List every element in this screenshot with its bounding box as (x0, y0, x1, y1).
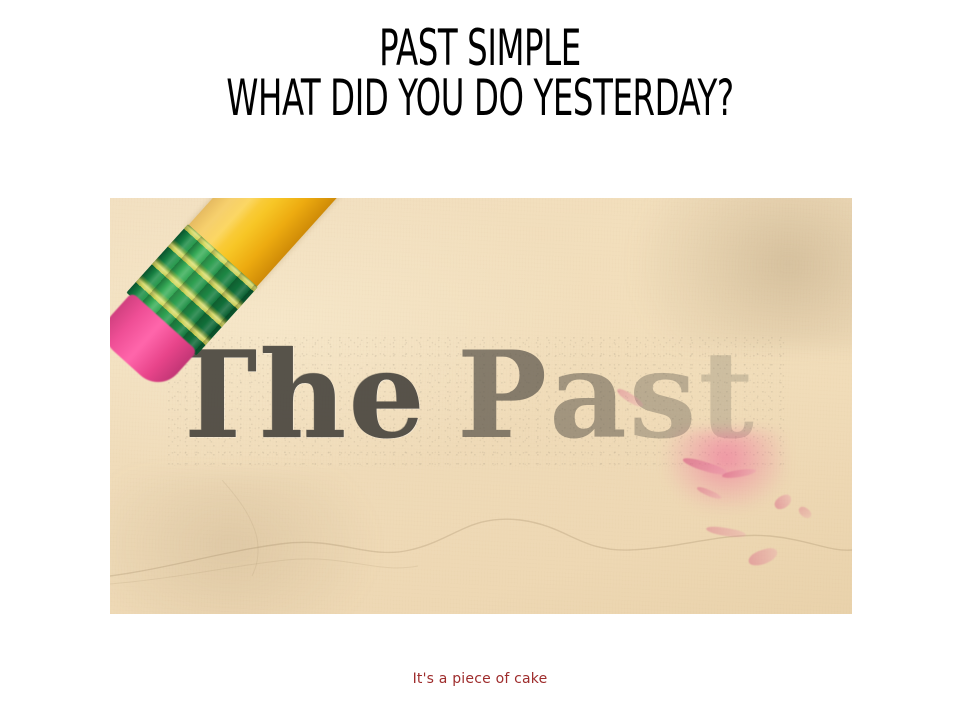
title-line-1: PAST SIMPLE (96, 22, 864, 75)
past-eraser-photo: ThePast (110, 198, 852, 614)
handwriting-word-the: The (168, 336, 427, 456)
slide-canvas: PAST SIMPLE WHAT DID YOU DO YESTERDAY? T… (0, 0, 960, 720)
title-line-2: WHAT DID YOU DO YESTERDAY? (96, 72, 864, 125)
page-title: PAST SIMPLE WHAT DID YOU DO YESTERDAY? (0, 22, 960, 120)
slide-caption: It's a piece of cake (0, 671, 960, 687)
handwriting-letter-a: a (549, 336, 629, 456)
handwriting-letter-p: P (457, 336, 549, 456)
